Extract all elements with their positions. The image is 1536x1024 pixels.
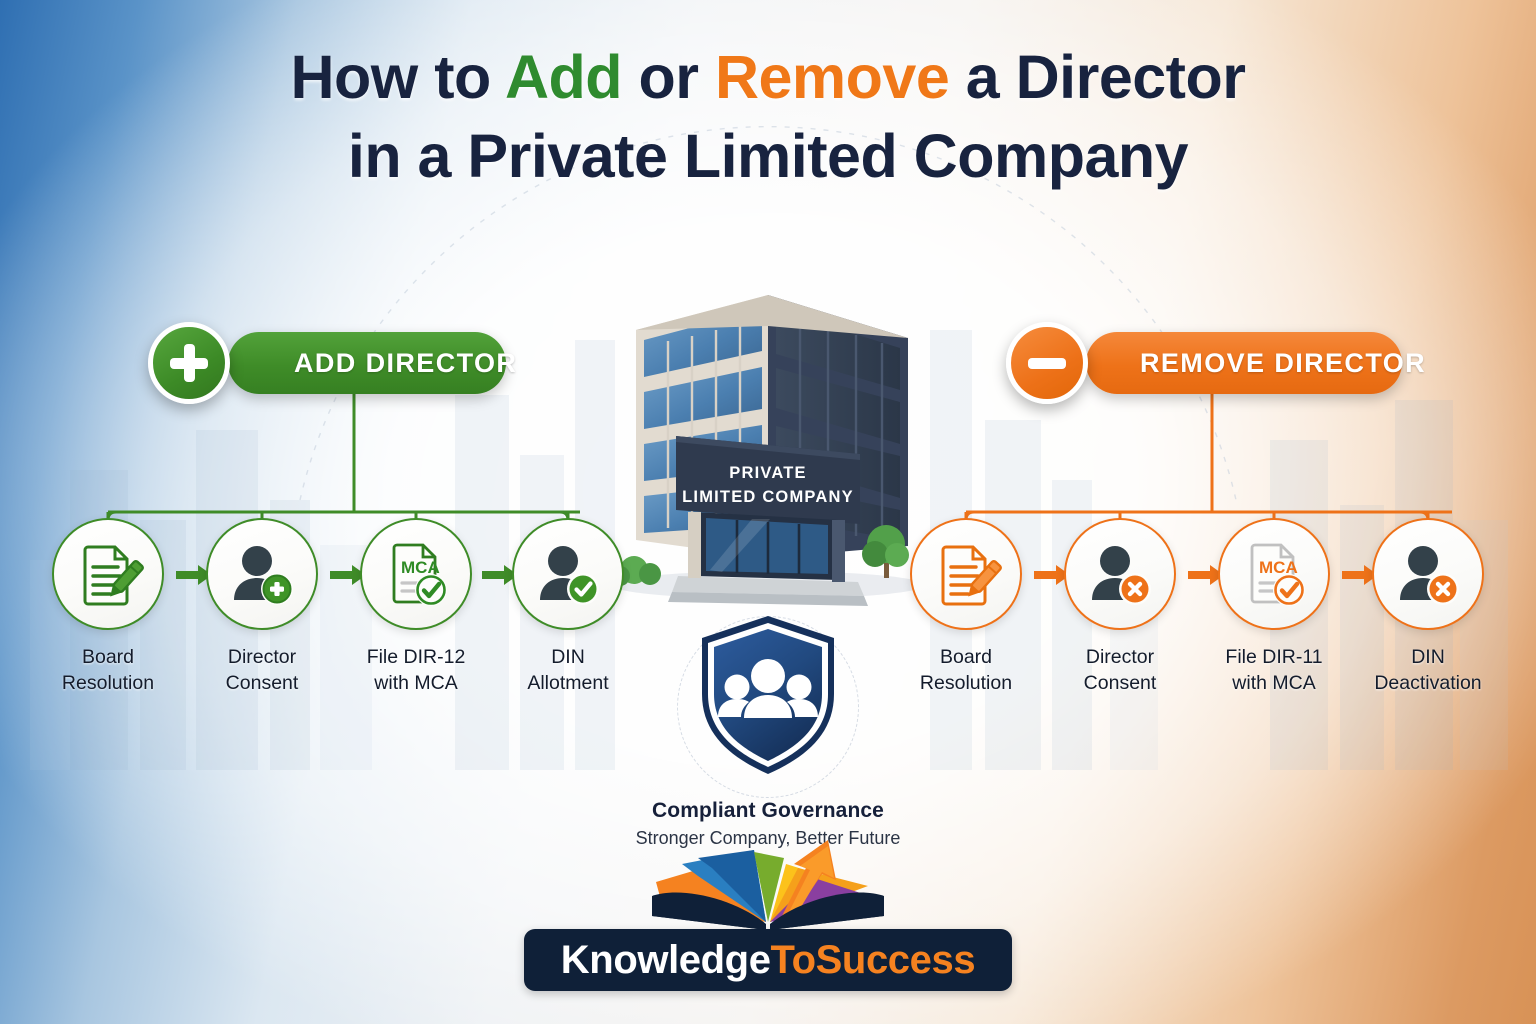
title-text-or: or	[622, 43, 715, 111]
building-sign-line-2: LIMITED COMPANY	[682, 488, 854, 506]
remove-step-director-consent-label: Director Consent	[1060, 645, 1180, 697]
add-step-din-allotment[interactable]: DIN Allotment	[508, 518, 628, 697]
mca-doc-text: MCA	[401, 558, 440, 577]
person-add-icon	[226, 538, 298, 610]
remove-step-din-deactivation-circle	[1372, 518, 1484, 630]
title-word-remove: Remove	[715, 43, 949, 111]
title-line-2: in a Private Limited Company	[0, 117, 1536, 196]
title-line-1: How to Add or Remove a Director	[0, 38, 1536, 117]
add-step-director-consent[interactable]: Director Consent	[202, 518, 322, 697]
plus-circle-icon[interactable]	[148, 322, 230, 404]
document-pencil-icon	[930, 538, 1002, 610]
remove-step-board-resolution-circle	[910, 518, 1022, 630]
remove-step-din-deactivation-label: DIN Deactivation	[1368, 645, 1488, 697]
page-title: How to Add or Remove a Director in a Pri…	[0, 38, 1536, 197]
mca-document-check-icon: MCA	[1238, 538, 1310, 610]
remove-step-file-dir11-label: File DIR-11 with MCA	[1214, 645, 1334, 697]
add-step-file-dir12[interactable]: MCA File DIR-12 with MCA	[356, 518, 476, 697]
building-sign-line-1: PRIVATE	[729, 464, 806, 482]
mca-document-check-icon: MCA	[380, 538, 452, 610]
add-director-badge-label: ADD DIRECTOR	[294, 348, 517, 379]
add-step-director-consent-label: Director Consent	[202, 645, 322, 697]
governance-title: Compliant Governance	[568, 799, 968, 823]
title-word-add: Add	[505, 43, 622, 111]
logo-wordmark-bar: KnowledgeToSuccess	[524, 929, 1012, 991]
title-text-howto: How to	[290, 43, 504, 111]
add-step-board-resolution-label: Board Resolution	[48, 645, 168, 697]
logo-text-secondary: ToSuccess	[771, 938, 976, 983]
company-building-illustration: PRIVATE LIMITED COMPANY	[592, 240, 944, 645]
remove-step-din-deactivation[interactable]: DIN Deactivation	[1368, 518, 1488, 697]
add-step-file-dir12-circle: MCA	[360, 518, 472, 630]
person-remove-icon	[1392, 538, 1464, 610]
person-check-icon	[532, 538, 604, 610]
open-book-arrow-icon	[638, 838, 898, 930]
logo-text-primary: Knowledge	[561, 938, 771, 983]
add-step-director-consent-circle	[206, 518, 318, 630]
remove-step-board-resolution[interactable]: Board Resolution	[906, 518, 1026, 697]
remove-step-director-consent[interactable]: Director Consent	[1060, 518, 1180, 697]
add-step-din-allotment-label: DIN Allotment	[508, 645, 628, 697]
document-pencil-icon	[72, 538, 144, 610]
add-step-board-resolution[interactable]: Board Resolution	[48, 518, 168, 697]
remove-step-director-consent-circle	[1064, 518, 1176, 630]
remove-director-badge-label: REMOVE DIRECTOR	[1140, 348, 1426, 379]
brand-logo[interactable]: KnowledgeToSuccess	[518, 838, 1018, 991]
add-step-board-resolution-circle	[52, 518, 164, 630]
remove-step-file-dir11[interactable]: MCA File DIR-11 with MCA	[1214, 518, 1334, 697]
add-step-file-dir12-label: File DIR-12 with MCA	[356, 645, 476, 697]
remove-step-file-dir11-circle: MCA	[1218, 518, 1330, 630]
remove-director-badge[interactable]: REMOVE DIRECTOR	[1086, 332, 1402, 394]
add-step-din-allotment-circle	[512, 518, 624, 630]
title-text-director: a Director	[949, 43, 1245, 111]
minus-circle-icon[interactable]	[1006, 322, 1088, 404]
remove-step-board-resolution-label: Board Resolution	[906, 645, 1026, 697]
person-remove-icon	[1084, 538, 1156, 610]
shield-people-icon	[688, 612, 848, 780]
add-director-badge[interactable]: ADD DIRECTOR	[228, 332, 506, 394]
mca-doc-text: MCA	[1259, 558, 1298, 577]
